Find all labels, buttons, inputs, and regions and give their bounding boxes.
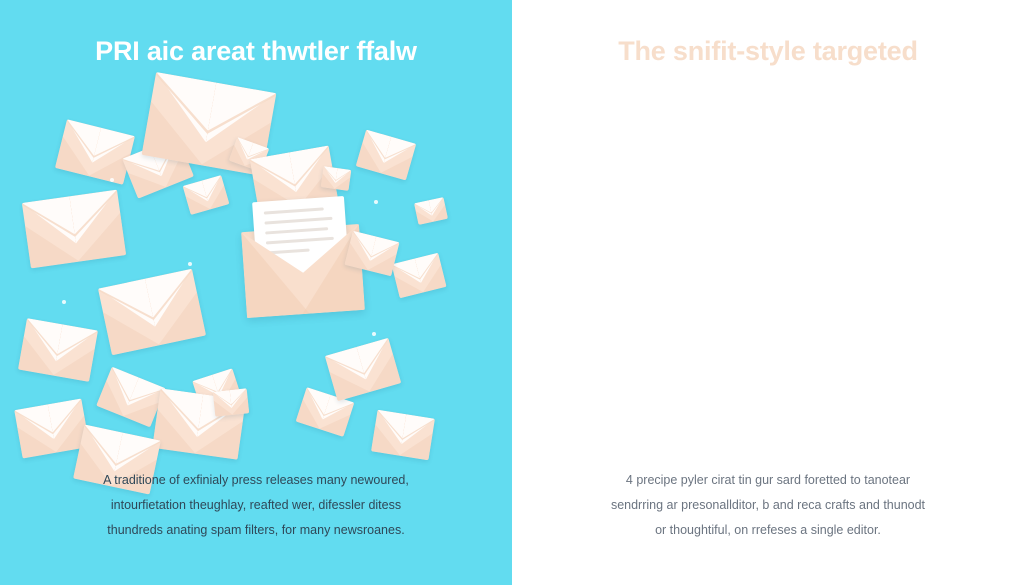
background-speck xyxy=(62,300,66,304)
envelope-body xyxy=(183,175,230,215)
background-speck xyxy=(110,178,114,182)
right-caption-line-3: or thoughtiful, on rrefeses a single edi… xyxy=(512,518,1024,543)
envelope-icon xyxy=(183,175,230,215)
envelope-icon xyxy=(18,318,98,382)
envelope-body xyxy=(325,338,401,401)
envelope-body xyxy=(321,166,352,191)
envelope-body xyxy=(371,410,435,461)
envelope-icon xyxy=(55,119,135,184)
left-caption-line-1: A traditione of exfinialy press releases… xyxy=(0,468,512,493)
envelope-icon xyxy=(22,190,126,269)
envelope-icon xyxy=(98,269,206,355)
left-panel-caption: A traditione of exfinialy press releases… xyxy=(0,468,512,543)
left-panel-title: PRI aic areat thwtler ffalw xyxy=(0,36,512,67)
left-caption-line-2: intourfietation theughlay, reafted wer, … xyxy=(0,493,512,518)
envelope-icon xyxy=(325,338,401,401)
envelope-body xyxy=(213,388,249,416)
background-speck xyxy=(188,262,192,266)
background-speck xyxy=(372,332,376,336)
right-panel-title: The snifit-style targeted xyxy=(512,36,1024,67)
envelope-body xyxy=(22,190,126,269)
open-envelope xyxy=(241,224,365,318)
right-panel-caption: 4 precipe pyler cirat tin gur sard foret… xyxy=(512,468,1024,543)
envelope-icon xyxy=(414,197,448,225)
envelope-body xyxy=(356,130,416,181)
envelope-body xyxy=(55,119,135,184)
envelope-icon xyxy=(213,388,249,416)
comparison-illustration: PRI aic areat thwtler ffalw A traditione… xyxy=(0,0,1024,585)
envelope-icon xyxy=(321,166,352,191)
envelope-icon xyxy=(391,253,446,299)
background-speck xyxy=(374,200,378,204)
envelope-body xyxy=(18,318,98,382)
envelope-icon xyxy=(356,130,416,181)
right-caption-line-2: sendrring ar presonallditor, b and reca … xyxy=(512,493,1024,518)
right-panel: The snifit-style targeted 4 precipe pyle… xyxy=(512,0,1024,585)
right-caption-line-1: 4 precipe pyler cirat tin gur sard foret… xyxy=(512,468,1024,493)
envelope-icon xyxy=(371,410,435,461)
left-caption-line-3: thundreds anating spam filters, for many… xyxy=(0,518,512,543)
envelope-body xyxy=(414,197,448,225)
envelope-body xyxy=(98,269,206,355)
envelope-body xyxy=(391,253,446,299)
left-panel: PRI aic areat thwtler ffalw A traditione… xyxy=(0,0,512,585)
